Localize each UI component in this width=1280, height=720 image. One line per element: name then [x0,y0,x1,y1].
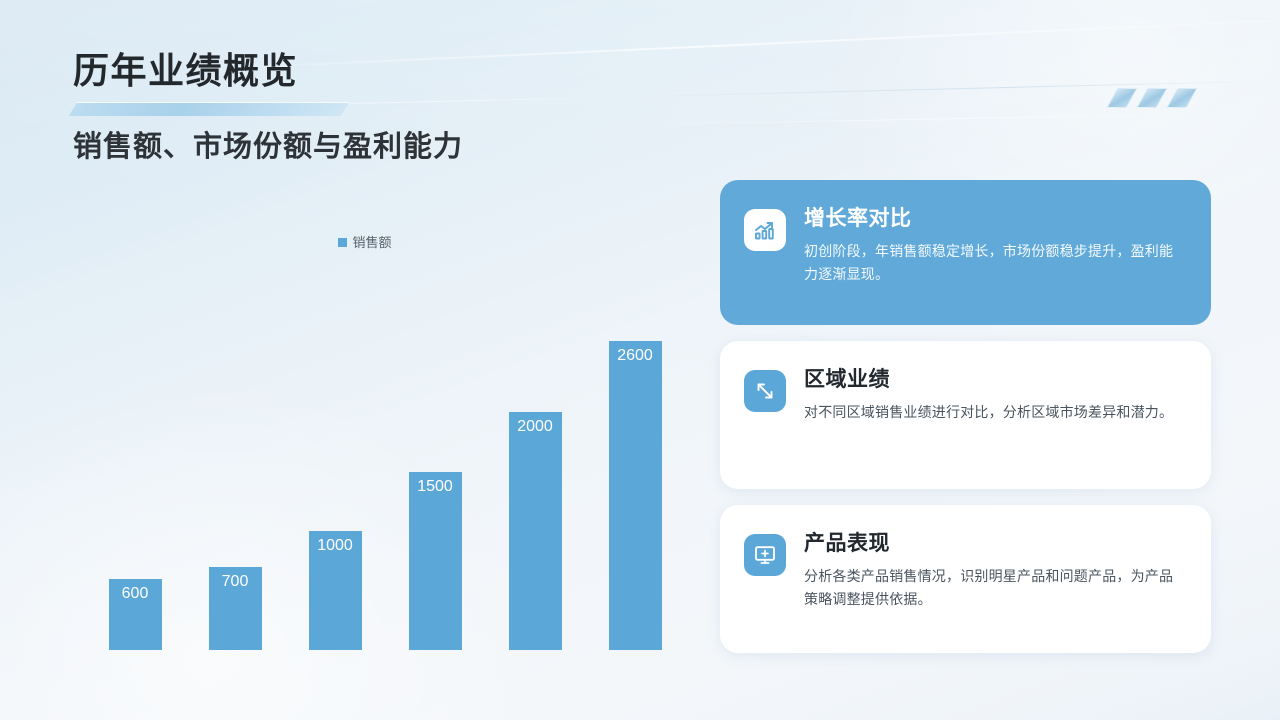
insight-cards-list: 增长率对比 初创阶段，年销售额稳定增长，市场份额稳步提升，盈利能力逐渐显现。 区… [720,180,1211,669]
expand-arrows-icon [744,370,786,412]
slide-canvas: 历年业绩概览 销售额、市场份额与盈利能力 销售额 600700100015002… [0,0,1280,720]
insight-card-body: 产品表现 分析各类产品销售情况，识别明星产品和问题产品，为产品策略调整提供依据。 [804,531,1187,629]
chart-bar-value-label: 700 [209,574,262,590]
chart-bar[interactable]: 1000 [309,531,362,650]
insight-card-description: 分析各类产品销售情况，识别明星产品和问题产品，为产品策略调整提供依据。 [804,565,1187,610]
chart-bar-slot: 700 [185,305,285,650]
insight-card-body: 增长率对比 初创阶段，年销售额稳定增长，市场份额稳步提升，盈利能力逐渐显现。 [804,206,1187,301]
insight-card-title: 产品表现 [804,531,1187,556]
chart-bar-slot: 1500 [385,305,485,650]
sales-bar-chart: 销售额 6007001000150020002600 [40,200,690,670]
background-streak-upper [201,12,1280,71]
chart-bar-slot: 600 [85,305,185,650]
chart-bar[interactable]: 600 [109,579,162,650]
chart-bar[interactable]: 1500 [409,472,462,650]
slanted-bars-decoration [1112,88,1212,110]
chart-bar-slot: 2600 [585,305,685,650]
chart-bar[interactable]: 2600 [609,341,662,650]
insight-card-body: 区域业绩 对不同区域销售业绩进行对比，分析区域市场差异和潜力。 [804,367,1187,465]
chart-plot-area: 6007001000150020002600 [85,305,685,650]
background-streak-lower [620,111,1280,125]
chart-bars-group: 6007001000150020002600 [85,305,685,650]
chart-bar-value-label: 2000 [509,419,562,435]
monitor-plus-icon [744,534,786,576]
chart-bar-value-label: 1000 [309,538,362,554]
page-title: 历年业绩概览 [73,51,298,91]
title-underline-accent [69,102,350,116]
chart-bar-value-label: 2600 [609,348,662,364]
insight-card-growth[interactable]: 增长率对比 初创阶段，年销售额稳定增长，市场份额稳步提升，盈利能力逐渐显现。 [720,180,1211,325]
insight-card-title: 增长率对比 [804,206,1187,231]
chart-legend: 销售额 [40,236,690,249]
chart-growth-icon [744,209,786,251]
insight-card-description: 对不同区域销售业绩进行对比，分析区域市场差异和潜力。 [804,401,1187,424]
legend-swatch-icon [338,238,347,247]
slanted-bar-icon [1106,88,1138,108]
chart-bar-value-label: 1500 [409,479,462,495]
legend-item-label: 销售额 [352,236,391,249]
insight-card-region[interactable]: 区域业绩 对不同区域销售业绩进行对比，分析区域市场差异和潜力。 [720,341,1211,489]
insight-card-title: 区域业绩 [804,367,1187,392]
slanted-bar-icon [1136,88,1168,108]
insight-card-product[interactable]: 产品表现 分析各类产品销售情况，识别明星产品和问题产品，为产品策略调整提供依据。 [720,505,1211,653]
chart-bar-value-label: 600 [109,586,162,602]
slanted-bar-icon [1166,88,1198,108]
chart-bar[interactable]: 700 [209,567,262,650]
insight-card-description: 初创阶段，年销售额稳定增长，市场份额稳步提升，盈利能力逐渐显现。 [804,240,1187,285]
chart-bar[interactable]: 2000 [509,412,562,650]
chart-bar-slot: 2000 [485,305,585,650]
page-subtitle: 销售额、市场份额与盈利能力 [73,131,463,164]
chart-bar-slot: 1000 [285,305,385,650]
